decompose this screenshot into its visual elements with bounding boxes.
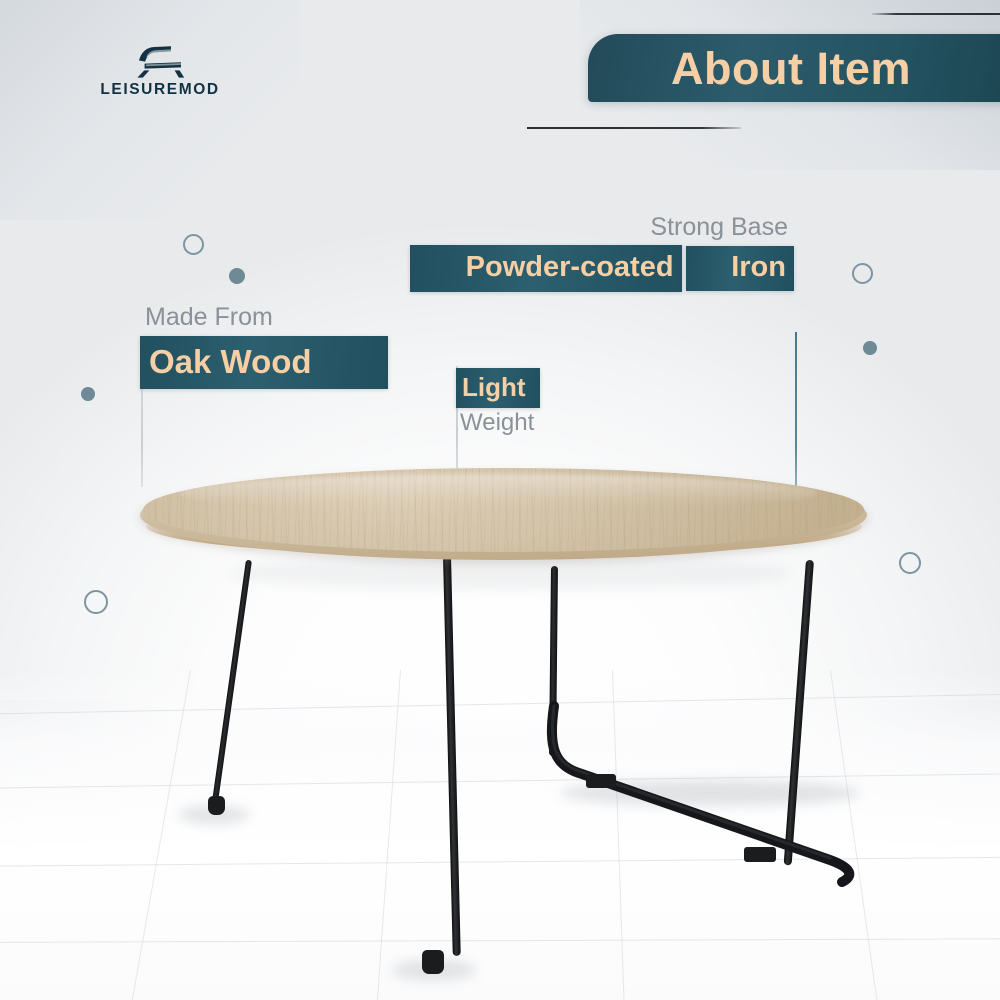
callout-light-weight: Light Weight (456, 368, 540, 437)
callout-oak-wood: Made From Oak Wood (140, 303, 388, 389)
callout-oak-wood-sublabel: Made From (140, 303, 388, 331)
foot-cap-front-middle (422, 950, 444, 974)
callout-powder-coated-iron: Strong Base Powder-coated Iron (410, 213, 794, 292)
callout-oak-wood-chip: Oak Wood (140, 336, 388, 389)
table-leg-front-middle (443, 556, 461, 956)
infographic-canvas: About Item LEISUREMOD (0, 0, 1000, 1000)
callout-powder-coated-sublabel: Strong Base (410, 213, 794, 241)
callout-light-weight-chip: Light (456, 368, 540, 408)
table-top-highlight (178, 474, 818, 512)
foot-pad-sled-front (744, 847, 776, 862)
table-leg-back-left (211, 560, 252, 808)
product-image-round-coffee-table (0, 0, 1000, 1000)
foot-cap-back-left (208, 796, 225, 815)
sled-base-runner (530, 700, 860, 890)
callout-iron-chip: Iron (686, 246, 794, 291)
table-shadow-under-top (230, 556, 790, 590)
foot-pad-sled-rear (586, 774, 616, 788)
callout-light-weight-sublabel: Weight (456, 410, 540, 437)
callout-powder-coated-chip: Powder-coated (410, 245, 682, 292)
